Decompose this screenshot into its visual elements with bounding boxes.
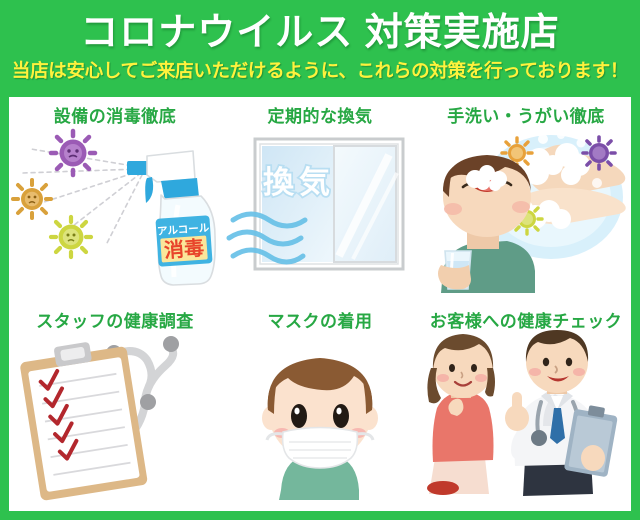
open-window-ventilation-icon: 換気 [221,125,419,290]
clipboard-stethoscope-icon [11,330,219,495]
poster-root: コロナウイルス 対策実施店 当店は安心してご来店いただけるように、これらの対策を… [0,0,640,520]
customer-figure [427,334,495,495]
germ-yellowgreen [51,217,91,257]
panel-staff-health: スタッフの健康調査 [11,313,219,495]
measures-grid: 設備の消毒徹底 [9,97,631,511]
boy-wearing-mask-icon [221,330,419,495]
panel-disinfection: 設備の消毒徹底 [11,108,219,290]
handwash-gargle-icon [421,125,631,290]
bottle-label: アルコール 消毒 [155,215,212,267]
water-glass [438,251,471,289]
page-subtitle: 当店は安心してご来店いただけるように、これらの対策を行っております！ [0,55,640,81]
panel-title-ventilation: 定期的な換気 [221,108,419,125]
label-disinfect-text: 消毒 [163,236,205,263]
window-illustration: 換気 [221,125,419,290]
mask-illustration [221,330,419,495]
doctor-hand [581,445,605,471]
handwash-illustration [421,125,631,290]
alcohol-spray-bottle-icon: アルコール 消毒 [11,125,219,290]
earpiece-right [163,336,179,352]
germ-orange [13,180,51,218]
panel-customer-check: お客様への健康チェック [421,313,631,495]
germ-purple [51,131,95,175]
panel-title-customer-check: お客様への健康チェック [421,313,631,330]
ventilation-text: 換気 [263,165,335,200]
stethoscope-joint [140,394,156,410]
panel-title-staff-health: スタッフの健康調査 [11,313,219,330]
spray-bottle-body: アルコール 消毒 [127,151,215,285]
panel-ventilation: 定期的な換気 [221,108,419,290]
doctor-chestpiece [531,430,547,446]
panel-mask: マスクの着用 [221,313,419,495]
panel-title-mask: マスクの着用 [221,313,419,330]
pointing-hand [505,392,529,431]
panel-handwash: 手洗い・うがい徹底 [421,108,631,290]
panel-title-disinfection: 設備の消毒徹底 [11,108,219,125]
doctor-and-customer-icon [421,330,631,495]
panel-title-handwash: 手洗い・うがい徹底 [421,108,631,125]
clipboard-illustration [11,330,219,495]
spray-bottle-illustration: アルコール 消毒 [11,125,219,290]
clipboard [18,336,148,501]
face-mask [267,428,373,469]
poster-header: コロナウイルス 対策実施店 当店は安心してご来店いただけるように、これらの対策を… [0,0,640,97]
doctor-figure [505,330,619,496]
page-title: コロナウイルス 対策実施店 [0,0,640,55]
doctor-customer-illustration [421,330,631,495]
germ-purple-hand [583,137,615,169]
